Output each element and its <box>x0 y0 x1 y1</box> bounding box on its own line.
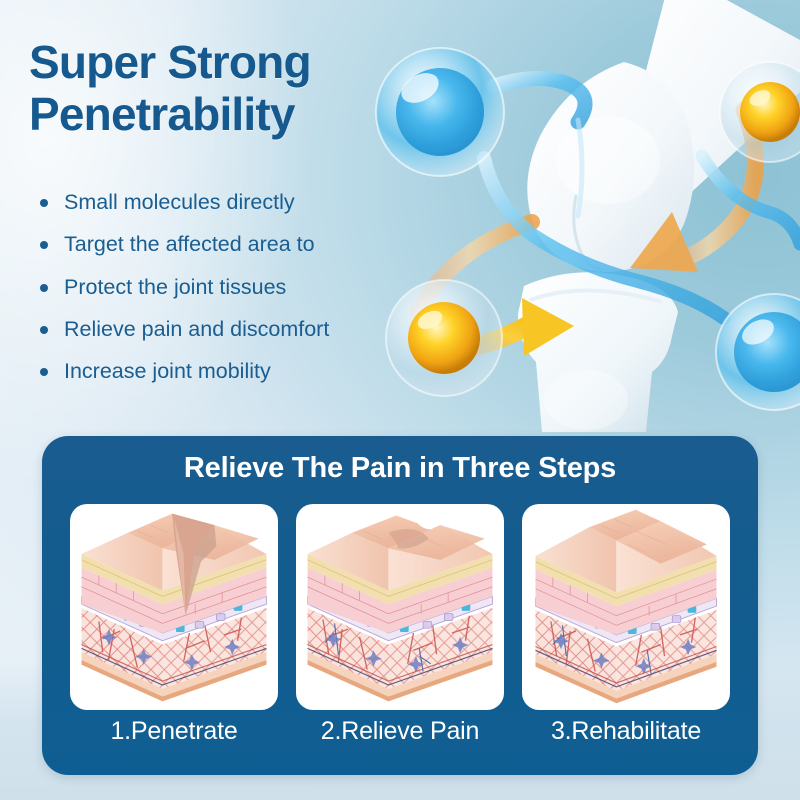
step-image-rehabilitate <box>522 504 730 710</box>
page-title: Super Strong Penetrability <box>29 36 429 141</box>
benefit-list: Small molecules directly Target the affe… <box>33 190 433 402</box>
step-caption-row: 1.Penetrate 2.Relieve Pain 3.Rehabilitat… <box>70 718 730 746</box>
step-image-penetrate <box>70 504 278 710</box>
benefit-item: Relieve pain and discomfort <box>33 317 433 342</box>
step-image-row <box>70 504 730 710</box>
step-caption-3: 3.Rehabilitate <box>522 718 730 746</box>
water-bubble-bottom-right <box>716 294 800 410</box>
steps-card-title: Relieve The Pain in Three Steps <box>42 452 758 485</box>
headline-line-2: Penetrability <box>29 88 429 140</box>
step-image-relieve-pain <box>296 504 504 710</box>
three-steps-card: Relieve The Pain in Three Steps <box>42 436 758 775</box>
benefit-item: Target the affected area to <box>33 232 433 257</box>
benefit-item: Increase joint mobility <box>33 359 433 384</box>
knee-joint-illustration <box>372 0 800 432</box>
headline-line-1: Super Strong <box>29 36 429 88</box>
step-caption-2: 2.Relieve Pain <box>296 718 504 746</box>
poster: Super Strong Penetrability Small molecul… <box>0 0 800 800</box>
benefit-item: Protect the joint tissues <box>33 275 433 300</box>
step-caption-1: 1.Penetrate <box>70 718 278 746</box>
benefit-item: Small molecules directly <box>33 190 433 215</box>
tibia-bone <box>518 272 678 432</box>
